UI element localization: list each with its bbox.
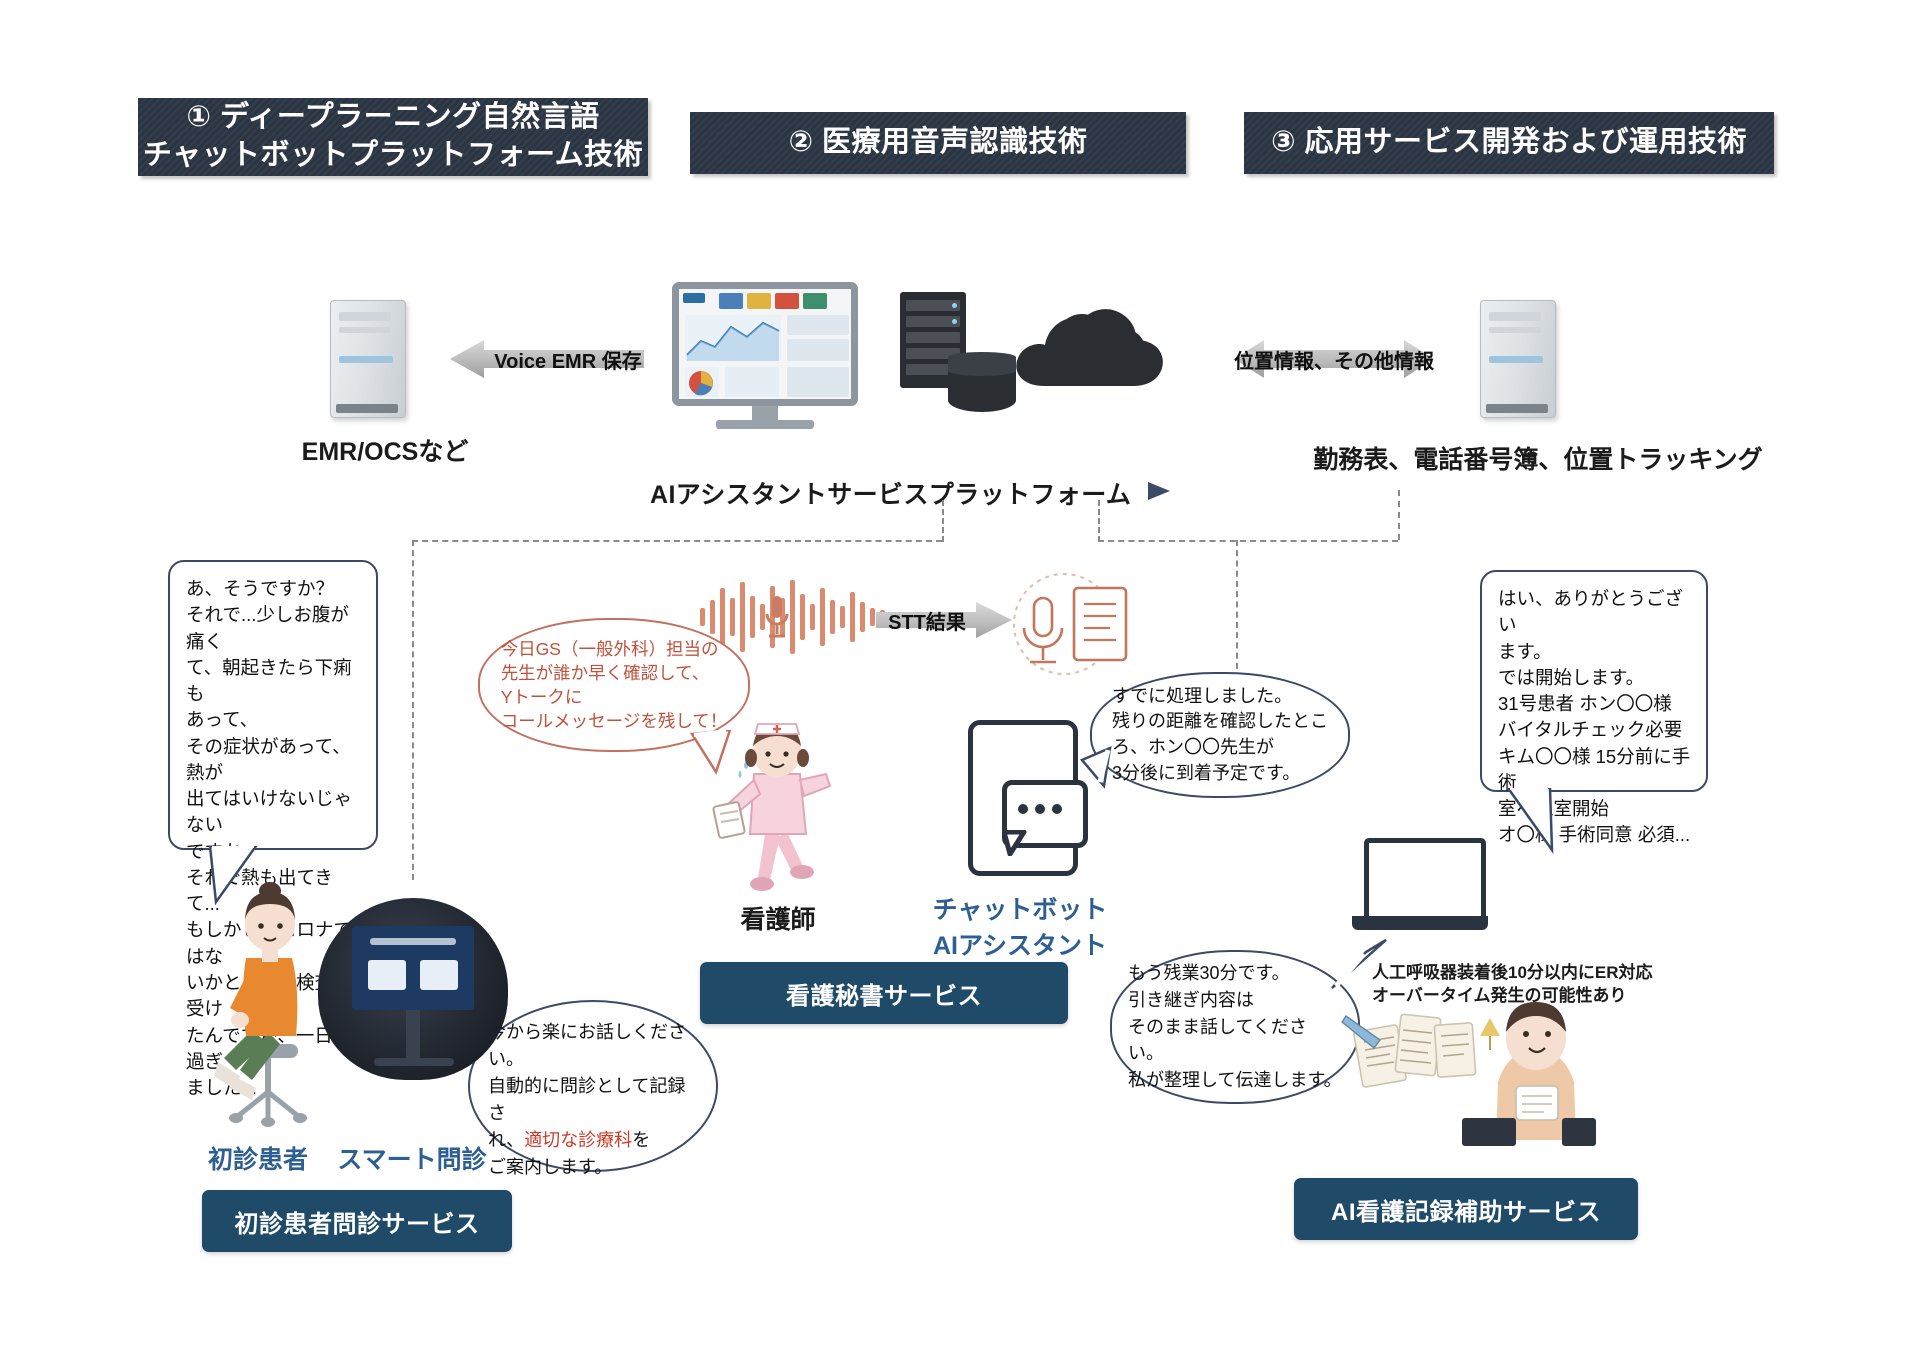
- connector-platform-left: [412, 540, 942, 542]
- bubble-ward-tail-icon: [1506, 788, 1562, 854]
- laptop-icon: [1352, 838, 1488, 944]
- label-nurse: 看護師: [740, 900, 815, 936]
- service-box-ai-nursing-record[interactable]: AI看護記録補助サービス: [1294, 1178, 1638, 1240]
- platform-title: AIアシスタントサービスプラットフォーム: [650, 475, 1131, 511]
- bubble-ward-handover-list: はい、ありがとうござい ます。 では開始します。 31号患者 ホン〇〇様 バイタ…: [1480, 570, 1708, 792]
- service-box-nursing-secretary[interactable]: 看護秘書サービス: [700, 962, 1068, 1024]
- connector-far-right-vertical: [1398, 490, 1400, 540]
- label-smart-interview: スマート問診: [337, 1140, 486, 1176]
- banner-deep-learning-nlp: ① ディープラーニング自然言語 チャットボットプラットフォーム技術: [138, 98, 648, 176]
- banner-applied-service-dev: ③ 応用サービス開発および運用技術: [1244, 112, 1774, 174]
- database-cylinder-top: [948, 352, 1016, 376]
- bubble-smart-highlight: 適切な診療科: [524, 1130, 632, 1150]
- seated-patient-illustration: [206, 880, 336, 1130]
- arrow-location-info: 位置情報、その他情報: [1234, 338, 1434, 380]
- arrow-stt-result-label: STT結果: [888, 606, 966, 635]
- label-ventilator-note: 人工呼吸器装着後10分以内にER対応 オーバータイム発生の可能性あり: [1372, 962, 1653, 1008]
- transcribed-document-icon: [1000, 570, 1140, 682]
- bubble-chatbot-response: すでに処理しました。 残りの距離を確認したとこ ろ、ホン〇〇先生が 3分後に到着…: [1090, 672, 1350, 798]
- label-first-visit-patient: 初診患者: [208, 1140, 308, 1176]
- emr-server-tower-icon: [330, 300, 406, 418]
- hr-server-tower-icon: [1480, 300, 1556, 418]
- banner-medical-speech-recognition: ② 医療用音声認識技術: [690, 112, 1186, 174]
- nurse-illustration: [710, 718, 846, 894]
- connector-up-from-platform-left: [942, 500, 944, 542]
- dashboard-monitor-icon: [672, 282, 858, 406]
- smart-interview-kiosk-icon: [318, 898, 508, 1080]
- voice-waveform-icon: [700, 580, 896, 654]
- cloud-icon: [1010, 300, 1170, 396]
- arrow-voice-emr: Voice EMR 保存: [450, 338, 644, 380]
- label-chatbot-assistant: チャットボット AIアシスタント: [933, 890, 1108, 962]
- label-emr-ocs: EMR/OCSなど: [302, 432, 469, 468]
- banner-1-line-1: ① ディープラーニング自然言語: [143, 99, 643, 137]
- platform-inbound-arrow-icon: [1140, 480, 1170, 502]
- service-box-first-visit[interactable]: 初診患者問診サービス: [202, 1190, 512, 1252]
- arrow-location-info-label: 位置情報、その他情報: [1234, 345, 1434, 374]
- banner-1-line-2: チャットボットプラットフォーム技術: [143, 137, 643, 175]
- connector-down-to-kiosk: [412, 540, 414, 880]
- arrow-stt-result: STT結果: [876, 600, 1012, 640]
- bubble-patient-complaint: あ、そうですか？ それで...少しお腹が痛く て、朝起きたら下痢も あって、 そ…: [168, 560, 378, 850]
- nurse-voice-record-illustration: [1340, 990, 1600, 1162]
- connector-platform-right: [1098, 540, 1398, 542]
- microphone-icon: [760, 592, 794, 644]
- banner-3-line-1: ③ 応用サービス開発および運用技術: [1271, 124, 1747, 162]
- connector-up-right: [1098, 500, 1100, 542]
- arrow-voice-emr-label: Voice EMR 保存: [494, 345, 641, 374]
- bubble-overtime-handover: もう残業30分です。 引き継ぎ内容は そのまま話してください。 私が整理して伝達…: [1110, 950, 1360, 1104]
- chatbot-phone-icon: [968, 720, 1078, 866]
- banner-2-line-1: ② 医療用音声認識技術: [788, 124, 1087, 162]
- label-schedule-tracking: 勤務表、電話番号簿、位置トラッキング: [1313, 440, 1762, 476]
